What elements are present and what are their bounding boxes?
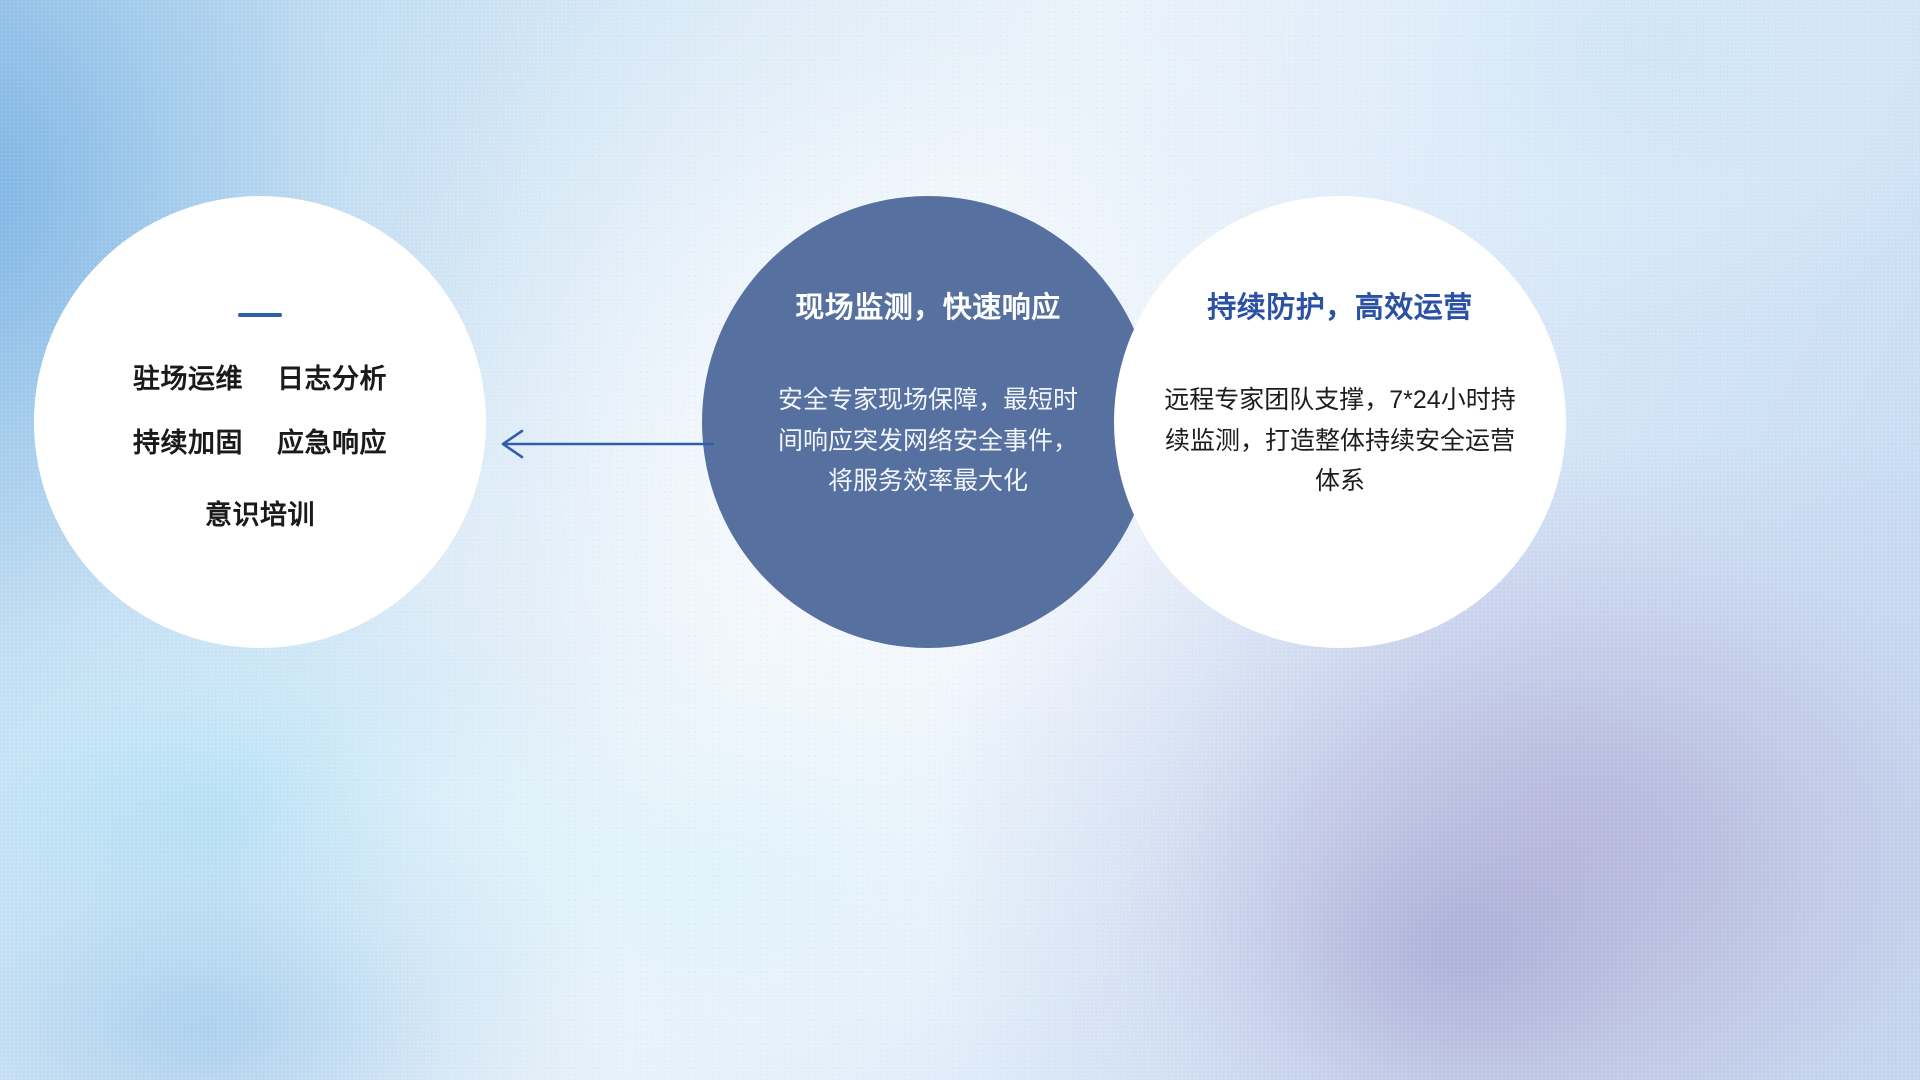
capability-tag: 驻场运维 xyxy=(133,357,243,396)
continuous-protection-title: 持续防护，高效运营 xyxy=(1207,284,1473,326)
capabilities-row: 驻场运维 日志分析 xyxy=(133,357,387,396)
onsite-monitoring-title: 现场监测，快速响应 xyxy=(795,284,1061,326)
capability-tag: 应急响应 xyxy=(277,421,387,460)
onsite-monitoring-body: 安全专家现场保障，最短时间响应突发网络安全事件，将服务效率最大化 xyxy=(778,380,1078,502)
capability-tag: 日志分析 xyxy=(277,357,387,396)
capability-tag: 意识培训 xyxy=(205,493,315,532)
capabilities-row: 意识培训 xyxy=(205,493,315,532)
capability-tag: 持续加固 xyxy=(133,421,243,460)
flow-arrow xyxy=(488,418,716,470)
info-circle-continuous-protection: 持续防护，高效运营 远程专家团队支撑，7*24小时持续监测，打造整体持续安全运营… xyxy=(1114,196,1566,648)
info-circle-capabilities: 驻场运维 日志分析 持续加固 应急响应 意识培训 xyxy=(34,196,486,648)
capabilities-list: 驻场运维 日志分析 持续加固 应急响应 意识培训 xyxy=(133,357,387,532)
capabilities-divider xyxy=(238,313,282,317)
continuous-protection-body: 远程专家团队支撑，7*24小时持续监测，打造整体持续安全运营体系 xyxy=(1164,380,1516,502)
capabilities-row: 持续加固 应急响应 xyxy=(133,421,387,460)
info-circle-onsite-monitoring: 现场监测，快速响应 安全专家现场保障，最短时间响应突发网络安全事件，将服务效率最… xyxy=(702,196,1154,648)
